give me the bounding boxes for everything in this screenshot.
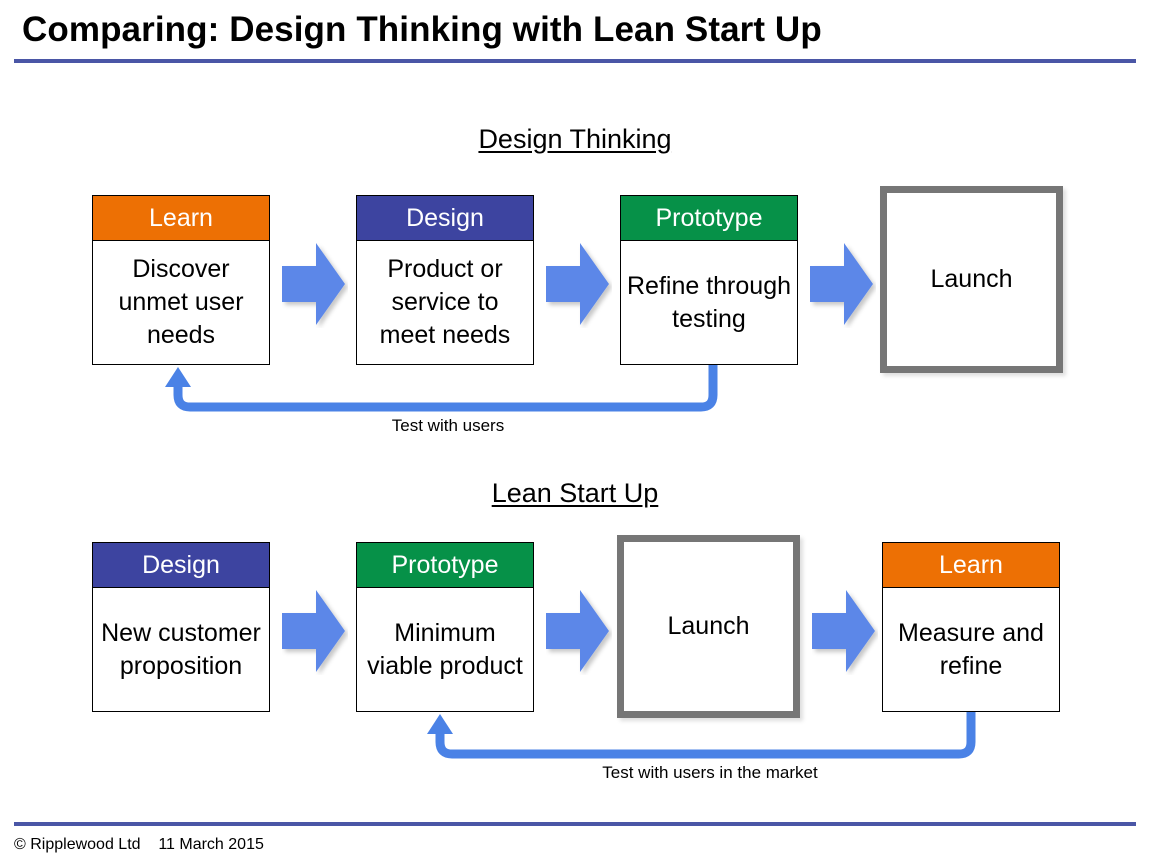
feedback-loop-label: Test with users xyxy=(248,416,648,436)
flow-arrow-right-icon xyxy=(810,240,876,328)
process-box-header: Learn xyxy=(93,196,269,241)
process-box-header: Design xyxy=(93,543,269,588)
section-heading-lean-start-up: Lean Start Up xyxy=(0,478,1150,509)
feedback-loop-arrow-icon xyxy=(425,712,985,767)
title-divider xyxy=(14,59,1136,63)
process-box-header: Prototype xyxy=(621,196,797,241)
process-box-header: Prototype xyxy=(357,543,533,588)
process-box-learn[interactable]: Learn Measure and refine xyxy=(882,542,1060,712)
process-box-launch[interactable]: Launch xyxy=(880,186,1063,373)
feedback-loop-arrow-icon xyxy=(160,365,735,420)
process-box-body: Product or service to meet needs xyxy=(357,241,533,364)
page-title: Comparing: Design Thinking with Lean Sta… xyxy=(22,10,822,50)
process-box-body: Discover unmet user needs xyxy=(93,241,269,364)
flow-arrow-right-icon xyxy=(546,240,612,328)
flow-arrow-right-icon xyxy=(282,240,348,328)
process-box-learn[interactable]: Learn Discover unmet user needs xyxy=(92,195,270,365)
process-box-body: Launch xyxy=(930,265,1012,294)
flow-arrow-right-icon xyxy=(546,587,612,675)
footer-divider xyxy=(14,822,1136,826)
process-box-body: Launch xyxy=(667,612,749,641)
feedback-loop-label: Test with users in the market xyxy=(510,763,910,783)
process-box-design[interactable]: Design New customer proposition xyxy=(92,542,270,712)
process-box-body: Minimum viable product xyxy=(357,588,533,711)
flow-arrow-right-icon xyxy=(812,587,878,675)
process-box-launch[interactable]: Launch xyxy=(617,535,800,718)
process-box-body: New customer proposition xyxy=(93,588,269,711)
footer-copyright: © Ripplewood Ltd 11 March 2015 xyxy=(14,836,264,854)
process-box-header: Design xyxy=(357,196,533,241)
flow-arrow-right-icon xyxy=(282,587,348,675)
process-box-body: Measure and refine xyxy=(883,588,1059,711)
process-box-design[interactable]: Design Product or service to meet needs xyxy=(356,195,534,365)
process-box-header: Learn xyxy=(883,543,1059,588)
process-box-body: Refine through testing xyxy=(621,241,797,364)
section-heading-design-thinking: Design Thinking xyxy=(0,124,1150,155)
slide-canvas: Comparing: Design Thinking with Lean Sta… xyxy=(0,0,1150,868)
process-box-prototype[interactable]: Prototype Minimum viable product xyxy=(356,542,534,712)
process-box-prototype[interactable]: Prototype Refine through testing xyxy=(620,195,798,365)
